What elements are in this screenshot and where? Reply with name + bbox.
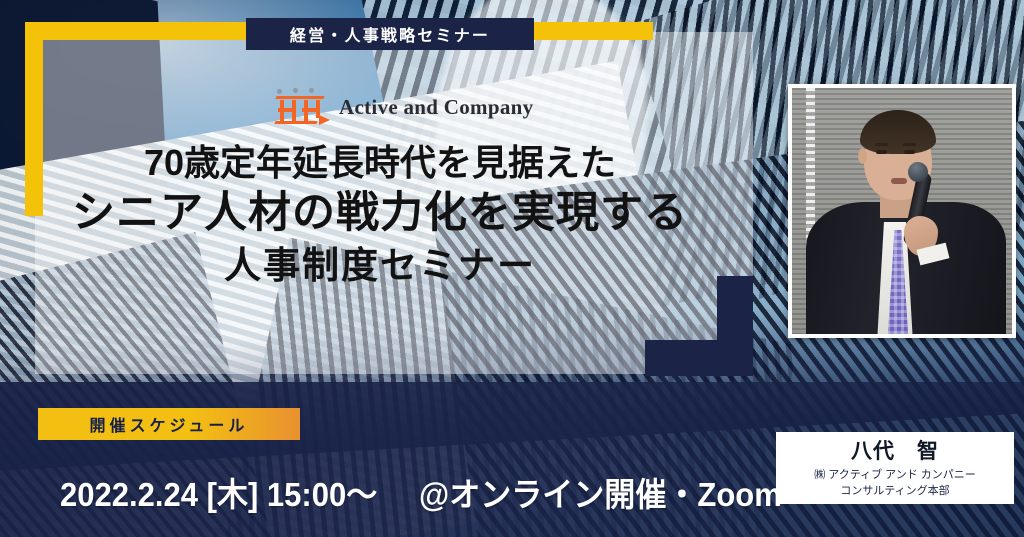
header-badge-label: 経営・人事戦略セミナー [290,22,490,46]
title-line-3: 人事制度セミナー [35,242,725,290]
speaker-photo [792,88,1012,334]
schedule-venue: @オンライン開催・Zoom [419,476,782,513]
active-and-company-logo-mark [272,88,330,126]
schedule-date: 2022.2.24 [木] 15:00〜 [60,476,377,513]
logo-dot-1 [277,89,282,94]
title-line-1: 70歳定年延長時代を見据えた [35,140,725,186]
logo-bottom-bar [274,121,317,124]
seminar-banner: 経営・人事戦略セミナー Active and Company 70歳定年延長時代… [0,0,1024,537]
seminar-title: 70歳定年延長時代を見据えた シニア人材の戦力化を実現する 人事制度セミナー [35,140,725,290]
header-badge: 経営・人事戦略セミナー [246,18,534,50]
speaker-nameplate: 八代 智 ㈱ アクティブ アンド カンパニー コンサルティング本部 [776,432,1014,504]
schedule-banner: 開催スケジュール [38,408,300,440]
speaker-name: 八代 智 [851,435,939,465]
speaker-eyebrow-right [903,143,916,146]
logo-dot-3 [309,88,314,93]
panel-corner-accent-vertical [717,276,753,376]
logo-dot-2 [293,88,298,93]
logo-crossbar-2 [302,108,320,112]
speaker-photo-frame [788,84,1016,338]
logo-arrow-icon [319,115,330,125]
logo-wordmark: Active and Company [339,95,533,120]
speaker-org-line-2: コンサルティング本部 [840,484,949,500]
speaker-eye-right [904,150,915,154]
brand-logo: Active and Company [272,88,533,126]
logo-top-bar [275,96,324,99]
schedule-dateline: 2022.2.24 [木] 15:00〜 @オンライン開催・Zoom [60,468,782,516]
speaker-eyebrow-left [875,143,888,146]
schedule-banner-label: 開催スケジュール [90,412,249,436]
speaker-hair [860,110,936,154]
speaker-mouth [891,178,907,184]
speaker-ear [858,148,867,164]
speaker-org-line-1: ㈱ アクティブ アンド カンパニー [814,468,976,484]
logo-crossbar-1 [278,108,296,112]
title-line-2: シニア人材の戦力化を実現する [35,186,725,242]
speaker-eye-left [876,150,887,154]
